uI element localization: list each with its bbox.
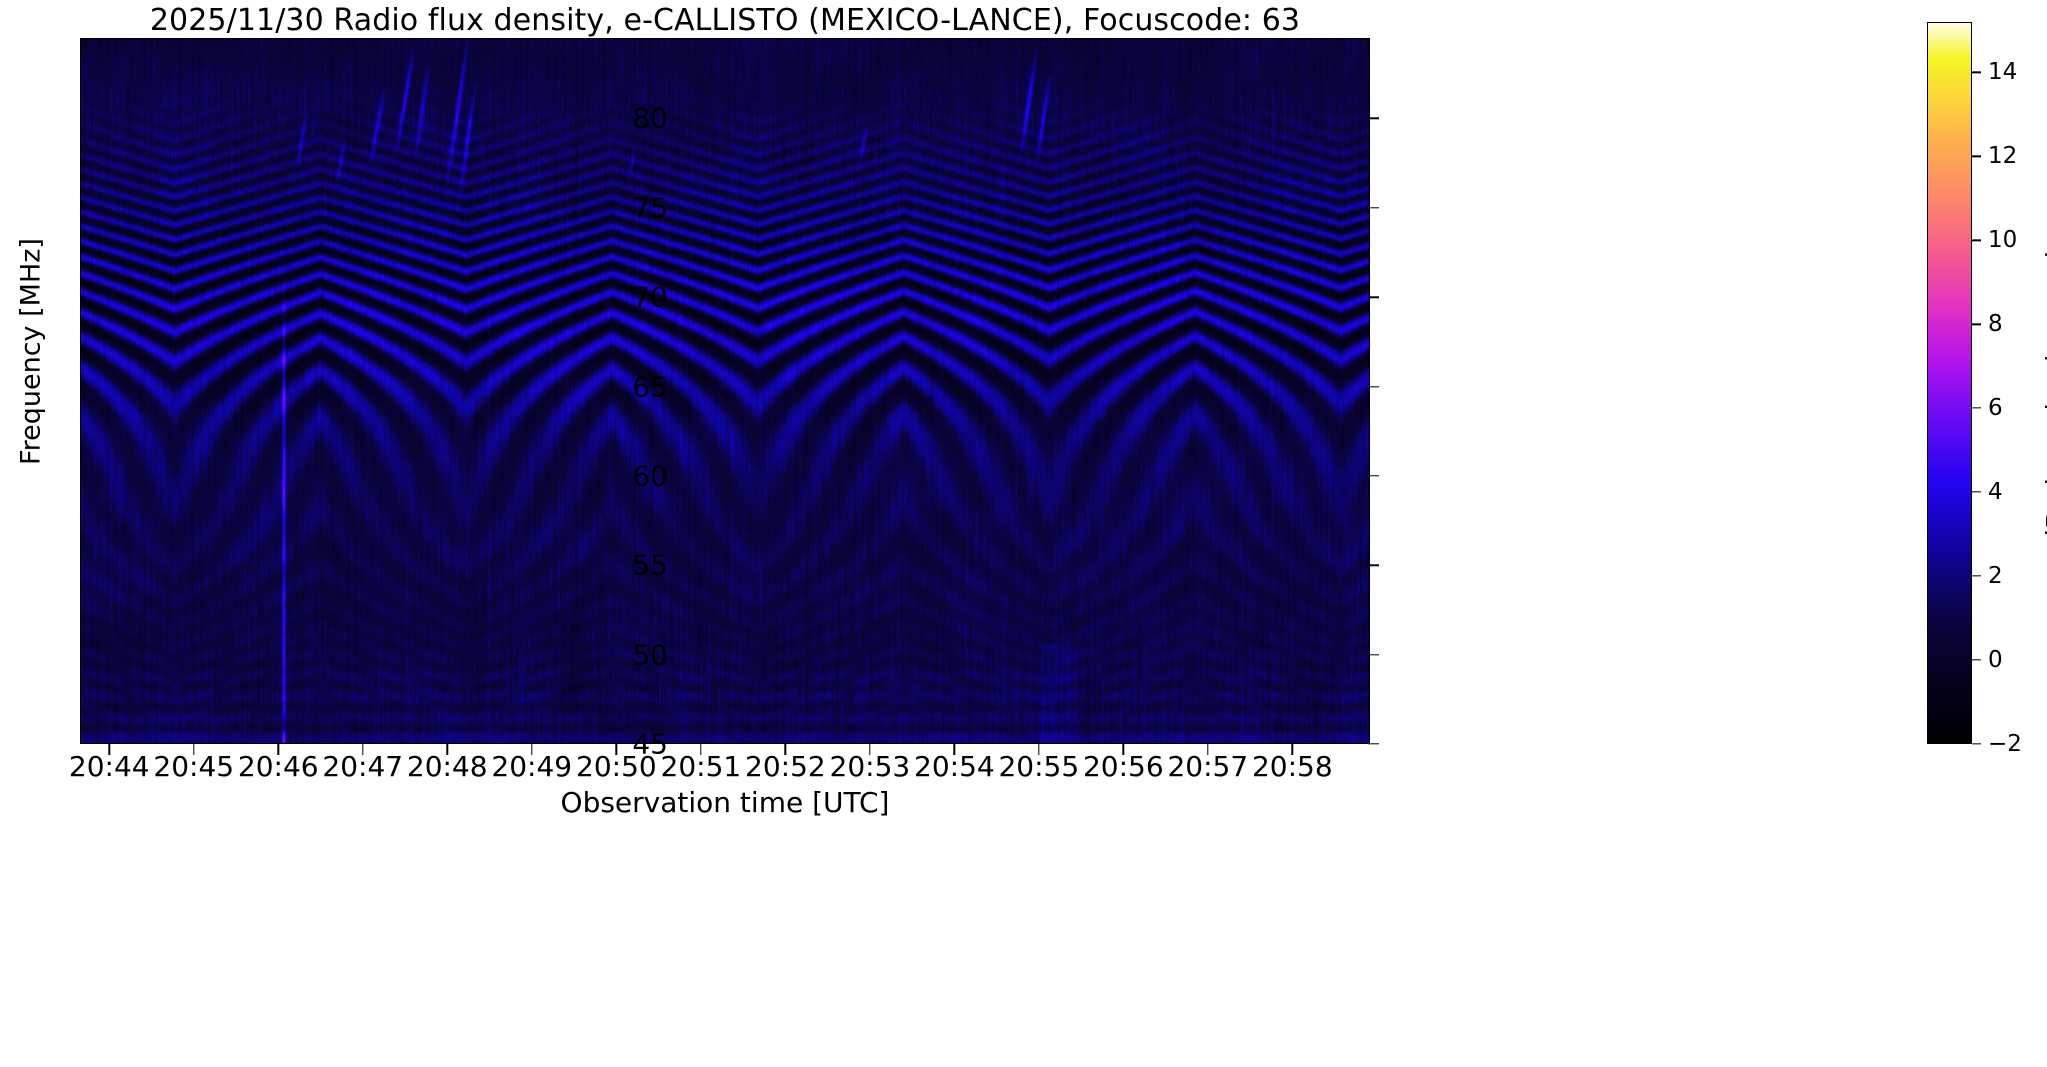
colorbar-tick-mark [1972,240,1981,241]
y-tick-mark [1368,565,1379,566]
x-tick-mark [785,744,786,755]
y-tick-mark [1368,386,1379,387]
x-tick-mark [700,744,701,755]
page-title: 2025/11/30 Radio flux density, e-CALLIST… [80,4,1370,38]
x-tick-mark [278,744,279,755]
colorbar-tick-label: 0 [1988,647,2003,673]
x-tick-mark [1038,744,1039,755]
y-tick-label: 60 [632,459,668,492]
figure-root: 2025/11/30 Radio flux density, e-CALLIST… [0,0,2047,1067]
spectrogram-image [81,39,1369,743]
colorbar-tick-mark [1972,659,1981,660]
x-tick-mark [447,744,448,755]
y-axis-label: Frequency [MHz] [16,0,47,705]
y-tick-mark [1368,475,1379,476]
x-tick-mark [616,744,617,755]
colorbar-tick-label: −2 [1988,731,2022,757]
colorbar-tick-mark [1972,408,1981,409]
colorbar-tick-mark [1972,72,1981,73]
x-tick-mark [1123,744,1124,755]
colorbar-tick-mark [1972,156,1981,157]
y-tick-label: 75 [632,191,668,224]
spectrogram-plot-area[interactable] [80,38,1370,744]
x-axis-label: Observation time [UTC] [80,786,1370,819]
colorbar-tick-label: 6 [1988,395,2003,421]
x-tick-mark [109,744,110,755]
x-tick-mark [1292,744,1293,755]
colorbar-tick-label: 14 [1988,59,2017,85]
colorbar-tick-label: 12 [1988,143,2017,169]
y-tick-mark [1368,207,1379,208]
x-tick-mark [1207,744,1208,755]
y-tick-mark [1368,743,1379,744]
x-tick-mark [531,744,532,755]
colorbar-label: dB above background [2042,38,2047,760]
colorbar-tick-label: 10 [1988,227,2017,253]
y-tick-label: 65 [632,370,668,403]
y-tick-mark [1368,654,1379,655]
y-tick-mark [1368,118,1379,119]
x-tick-mark [193,744,194,755]
colorbar-tick-mark [1972,492,1981,493]
x-tick-mark [869,744,870,755]
x-tick-mark [954,744,955,755]
y-tick-mark [1368,296,1379,297]
colorbar-tick-mark [1972,575,1981,576]
y-tick-label: 80 [632,102,668,135]
y-tick-label: 70 [632,281,668,314]
colorbar-tick-mark [1972,324,1981,325]
x-tick-mark [362,744,363,755]
colorbar-gradient [1928,23,1971,743]
colorbar-tick-mark [1972,743,1981,744]
colorbar[interactable] [1927,22,1972,744]
colorbar-tick-label: 2 [1988,563,2003,589]
y-tick-label: 50 [632,638,668,671]
colorbar-tick-label: 4 [1988,479,2003,505]
colorbar-tick-label: 8 [1988,311,2003,337]
y-tick-label: 55 [632,549,668,582]
